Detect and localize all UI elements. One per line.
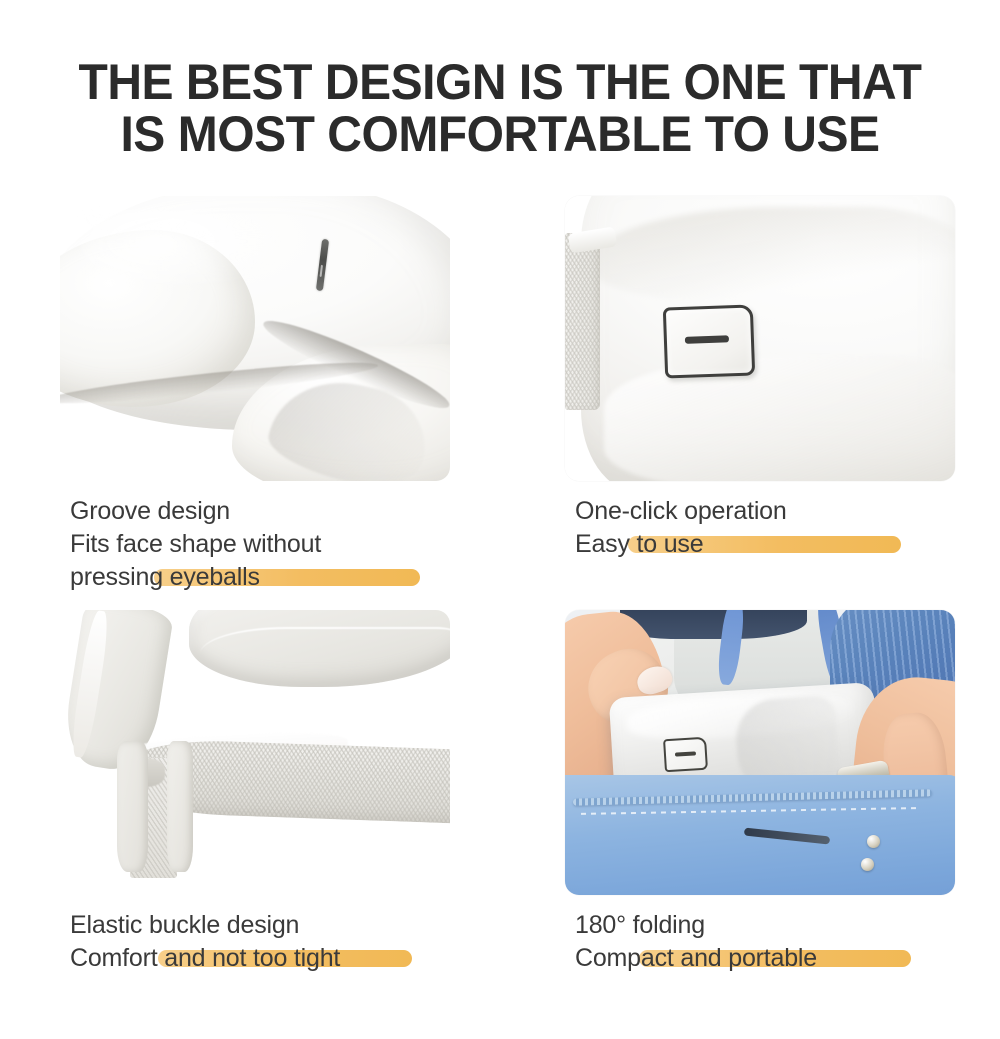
feature-photo-180-folding (565, 610, 955, 895)
feature-card-groove-design: Groove design Fits face shape without pr… (60, 196, 450, 594)
caption-line-highlighted: Easy to use (575, 528, 955, 561)
caption-line: Elastic buckle design (70, 909, 450, 942)
infographic-page: THE BEST DESIGN IS THE ONE THAT IS MOST … (0, 0, 1000, 1039)
feature-caption-180-folding: 180° folding Compact and portable (565, 909, 955, 975)
page-title-line-2: IS MOST COMFORTABLE TO USE (20, 108, 980, 160)
feature-card-one-click-operation: One-click operation Easy to use (565, 196, 955, 561)
caption-line: Fits face shape without (70, 528, 450, 561)
buckle-loop-right (167, 741, 192, 872)
page-title-line-1: THE BEST DESIGN IS THE ONE THAT (20, 56, 980, 108)
buckle-loop-left (117, 741, 148, 872)
caption-line-highlighted: pressing eyeballs (70, 561, 450, 594)
feature-photo-one-click-operation (565, 196, 955, 481)
caption-line-highlighted: Comfort and not too tight (70, 942, 450, 975)
feature-card-180-folding: 180° folding Compact and portable (565, 610, 955, 975)
highlight-sheen (83, 207, 278, 293)
feature-card-elastic-buckle-design: Elastic buckle design Comfort and not to… (60, 610, 450, 975)
body-lower-shading (604, 356, 955, 481)
feature-caption-elastic-buckle-design: Elastic buckle design Comfort and not to… (60, 909, 450, 975)
power-button-icon (663, 737, 708, 772)
feature-caption-one-click-operation: One-click operation Easy to use (565, 495, 955, 561)
feature-photo-groove-design (60, 196, 450, 481)
eye-pad-seam (200, 627, 450, 673)
caption-line: 180° folding (575, 909, 955, 942)
feature-photo-elastic-buckle-design (60, 610, 450, 895)
page-title: THE BEST DESIGN IS THE ONE THAT IS MOST … (0, 56, 1000, 160)
caption-line-highlighted: Compact and portable (575, 942, 955, 975)
elastic-strap (565, 233, 600, 410)
caption-line: Groove design (70, 495, 450, 528)
power-button-icon (663, 304, 755, 378)
feature-caption-groove-design: Groove design Fits face shape without pr… (60, 495, 450, 594)
caption-line: One-click operation (575, 495, 955, 528)
